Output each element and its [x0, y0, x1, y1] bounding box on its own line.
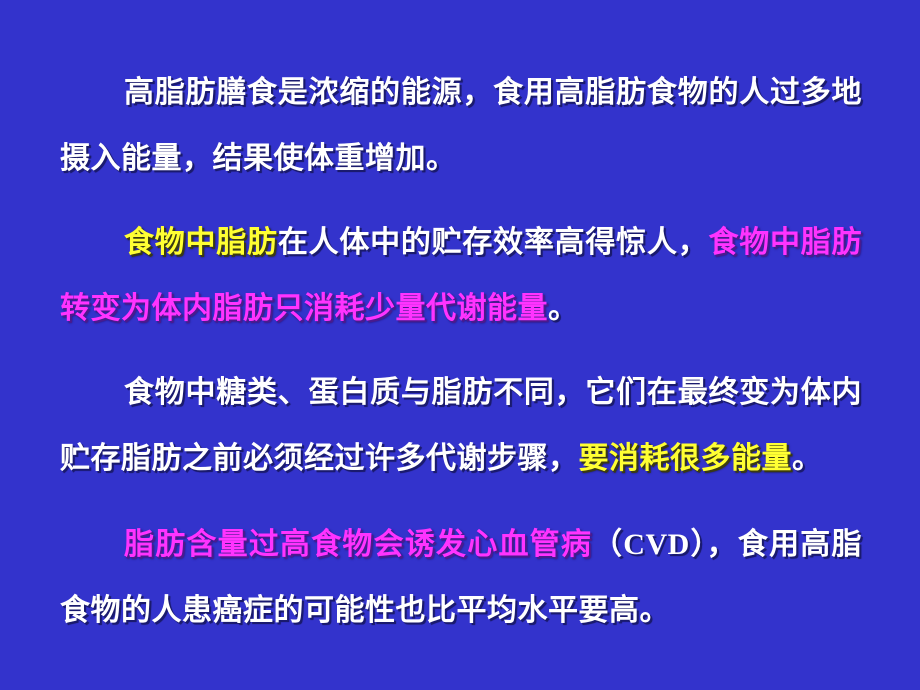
text-run-white: 在人体中的贮存效率高得惊人，	[278, 226, 709, 259]
paragraph-3: 食物中糖类、蛋白质与脂肪不同，它们在最终变为体内贮存脂肪之前必须经过许多代谢步骤…	[60, 360, 862, 492]
paragraph-4: 脂肪含量过高食物会诱发心血管病（CVD），食用高脂食物的人患癌症的可能性也比平均…	[60, 512, 862, 644]
text-run-yellow: 要消耗很多能量	[579, 442, 793, 475]
text-run-white: 。	[548, 292, 579, 325]
paragraph-2: 食物中脂肪在人体中的贮存效率高得惊人，食物中脂肪转变为体内脂肪只消耗少量代谢能量…	[60, 210, 862, 342]
slide-canvas: 高脂肪膳食是浓缩的能源，食用高脂肪食物的人过多地摄入能量，结果使体重增加。 食物…	[0, 0, 920, 690]
paragraph-1: 高脂肪膳食是浓缩的能源，食用高脂肪食物的人过多地摄入能量，结果使体重增加。	[60, 60, 862, 192]
text-run-yellow: 食物中脂肪	[124, 226, 278, 259]
text-run-white: 高脂肪膳食是浓缩的能源，食用高脂肪食物的人过多地摄入能量，结果使体重增加。	[60, 76, 862, 175]
text-run-magenta: 脂肪含量过高食物会诱发心血管病	[124, 528, 592, 561]
text-run-white: 。	[792, 442, 823, 475]
slide-body-text: 高脂肪膳食是浓缩的能源，食用高脂肪食物的人过多地摄入能量，结果使体重增加。 食物…	[60, 60, 862, 644]
